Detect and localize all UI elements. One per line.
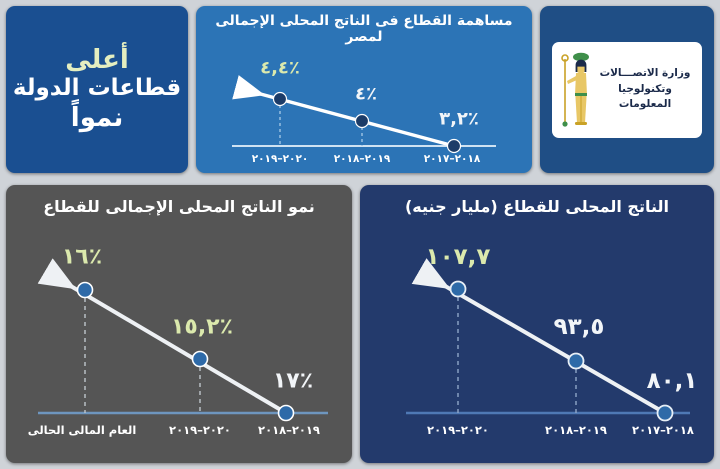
headline-line-3: نمواً <box>71 104 123 133</box>
data-point-2 <box>658 406 673 421</box>
chart-contribution-panel: مساهمة القطاع فى الناتج المحلى الإجمالى … <box>196 6 532 173</box>
headline-line-2: قطاعات الدولة <box>13 76 181 101</box>
ministry-logo-text: وزارة الاتصـــالات وتكنولوجيا المعلومات <box>594 66 696 113</box>
value-label-0: ٪١٦ <box>62 245 102 270</box>
data-point-0 <box>274 93 287 106</box>
value-label-1: ٪٤ <box>355 84 377 105</box>
x-tick-1: ٢٠٢٠–٢٠١٩ <box>169 423 231 437</box>
x-tick-1: ٢٠١٩–٢٠١٨ <box>334 153 391 165</box>
infographic-canvas: أعلى قطاعات الدولة نمواً مساهمة القطاع ف… <box>0 0 720 469</box>
data-point-1 <box>569 354 584 369</box>
value-label-2: ٪٣,٢ <box>439 109 479 130</box>
headline-panel: أعلى قطاعات الدولة نمواً <box>6 6 188 173</box>
ministry-name-line-2: وتكنولوجيا المعلومات <box>594 82 696 114</box>
logo-panel: وزارة الاتصـــالات وتكنولوجيا المعلومات <box>540 6 714 173</box>
data-point-0 <box>78 283 93 298</box>
data-point-2 <box>279 406 294 421</box>
x-tick-2: ٢٠١٨–٢٠١٧ <box>632 423 694 437</box>
value-label-2: ٨٠,١ <box>647 368 698 394</box>
x-tick-1: ٢٠١٩–٢٠١٨ <box>545 423 607 437</box>
pharaonic-thoth-figure-icon <box>558 51 592 129</box>
chart-sector-gdp-panel: الناتج المحلى للقطاع (مليار جنيه) ١٠٧,٧ … <box>360 185 714 463</box>
data-point-2 <box>448 140 461 153</box>
data-point-1 <box>356 115 369 128</box>
x-tick-2: ٢٠١٩–٢٠١٨ <box>258 423 320 437</box>
data-point-1 <box>193 352 208 367</box>
headline-line-1: أعلى <box>65 47 129 74</box>
ministry-name-line-1: وزارة الاتصـــالات <box>594 66 696 82</box>
x-tick-0: ٢٠٢٠–٢٠١٩ <box>427 423 489 437</box>
value-label-0: ١٠٧,٧ <box>426 244 491 270</box>
x-tick-2: ٢٠١٨–٢٠١٧ <box>424 153 481 165</box>
chart-sector-gdp-plot <box>360 185 714 463</box>
value-label-0: ٪٤,٤ <box>260 58 300 79</box>
x-tick-0: العام المالى الحالى <box>28 423 137 437</box>
data-point-0 <box>451 282 466 297</box>
value-label-1: ٩٣,٥ <box>554 314 605 340</box>
ministry-logo-card: وزارة الاتصـــالات وتكنولوجيا المعلومات <box>552 42 702 138</box>
chart-sector-growth-panel: نمو الناتج المحلى الإجمالى للقطاع ٪١٦ ٪١… <box>6 185 352 463</box>
value-label-2: ٪١٧ <box>273 369 313 394</box>
value-label-1: ٪١٥,٢ <box>171 315 233 340</box>
x-tick-0: ٢٠٢٠–٢٠١٩ <box>252 153 309 165</box>
